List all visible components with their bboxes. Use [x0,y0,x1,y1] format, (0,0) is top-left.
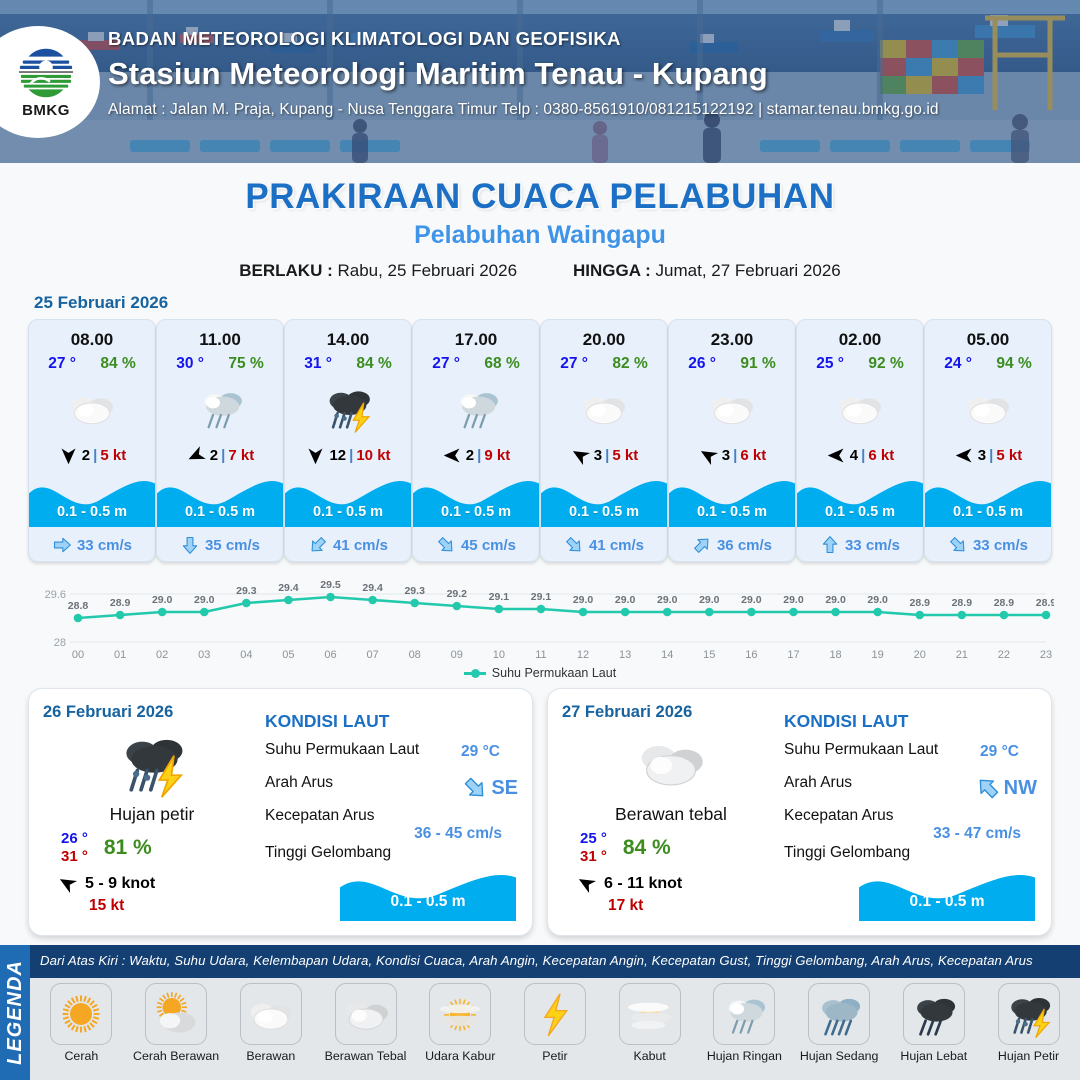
current-direction-arrow-icon [180,535,200,555]
weather-icon-hujan-ringan [448,380,504,436]
current-direction-arrow-icon [432,531,460,559]
hourly-weather-icon [832,379,888,437]
svg-text:19: 19 [872,649,884,661]
wind-direction-arrow-icon [694,441,723,470]
sea-row-wave-label: Tinggi Gelombang [265,844,522,862]
hourly-current-row: 41 cm/s [541,535,667,555]
hourly-wind-gust: 5 kt [100,447,126,464]
hourly-weather-icon [448,379,504,437]
svg-text:08: 08 [409,649,421,661]
svg-text:29.0: 29.0 [194,594,215,606]
hourly-humidity: 84 % [356,355,391,373]
hourly-weather-icon [704,379,760,437]
daily-wind-speed: 5 - 9 knot [85,875,155,893]
daily-temp-max: 31 ° [61,848,88,865]
chart-legend-label: Suhu Permukaan Laut [492,666,616,680]
wind-direction-arrow-icon [954,445,975,466]
current-direction-arrow-icon [969,770,1006,807]
weather-icon-hujan-petir [320,380,376,436]
hourly-card[interactable]: 02.00 25 ° 92 % 4 | 6 kt 0.1 - 0.5 m 33 … [796,319,924,562]
svg-text:04: 04 [240,649,252,661]
sst-chart: 29.62828.80028.90129.00229.00329.30429.4… [26,572,1054,664]
sea-row-speed-label: Kecepatan Arus [784,807,1041,825]
header-text-block: BADAN METEOROLOGI KLIMATOLOGI DAN GEOFIS… [108,28,939,119]
legend-note: Dari Atas Kiri : Waktu, Suhu Udara, Kele… [40,953,1074,968]
current-direction-arrow-icon [944,531,972,559]
hourly-card[interactable]: 14.00 31 ° 84 % 12 | 10 kt 0.1 - 0.5 m [284,319,412,562]
hourly-card[interactable]: 17.00 27 ° 68 % 2 | 9 kt 0.1 - 0.5 m [412,319,540,562]
svg-text:28.9: 28.9 [994,597,1015,609]
hourly-temperature: 27 ° [432,355,460,373]
hourly-temp-hum-row: 25 ° 92 % [797,355,923,373]
wind-separator: | [349,447,353,464]
legend-item-label: Hujan Petir [998,1049,1059,1063]
hourly-current-row: 35 cm/s [157,535,283,555]
sea-condition-title: KONDISI LAUT [784,711,1041,732]
hourly-temperature: 24 ° [944,355,972,373]
daily-forecast-card[interactable]: 26 Februari 2026 Hujan petir 26 ° 31 ° 8… [28,688,533,936]
weather-icon-hujan-petir [1002,987,1056,1041]
daily-left-column: 27 Februari 2026 Berawan tebal 25 ° 31 °… [562,703,780,925]
legend-icon-box [998,983,1060,1045]
sea-row-wave-label: Tinggi Gelombang [784,844,1041,862]
wind-separator: | [733,447,737,464]
hourly-temp-hum-row: 27 ° 82 % [541,355,667,373]
hourly-card[interactable]: 23.00 26 ° 91 % 3 | 6 kt 0.1 - 0.5 m 36 … [668,319,796,562]
hourly-card[interactable]: 05.00 24 ° 94 % 3 | 5 kt 0.1 - 0.5 m 33 … [924,319,1052,562]
svg-text:13: 13 [619,649,631,661]
legend-item: Hujan Ringan [700,983,788,1063]
hourly-wind-row: 3 | 6 kt [669,445,795,466]
hourly-humidity: 84 % [100,355,135,373]
svg-text:14: 14 [661,649,673,661]
title-block: PRAKIRAAN CUACA PELABUHAN Pelabuhan Wain… [0,163,1080,281]
hourly-wind-gust: 5 kt [996,447,1022,464]
daily-wave-graphic [340,863,516,921]
wind-direction-arrow-icon [442,445,463,466]
hourly-temp-hum-row: 27 ° 84 % [29,355,155,373]
legend-item: Berawan [227,983,315,1063]
page-subtitle: Pelabuhan Waingapu [0,221,1080,250]
svg-text:29.0: 29.0 [783,594,804,606]
svg-text:29.0: 29.0 [573,594,594,606]
svg-text:09: 09 [451,649,463,661]
svg-text:12: 12 [577,649,589,661]
svg-text:16: 16 [745,649,757,661]
daily-condition: Berawan tebal [562,804,780,825]
hourly-current-row: 36 cm/s [669,535,795,555]
weather-icon-udara-kabur [433,987,487,1041]
legend-side-tab: LEGENDA [0,945,30,1080]
hourly-date-label: 25 Februari 2026 [34,293,1080,313]
svg-text:02: 02 [156,649,168,661]
hourly-temp-hum-row: 31 ° 84 % [285,355,411,373]
legend-item-label: Petir [542,1049,567,1063]
hourly-time: 14.00 [327,330,370,350]
legend-icon-box [619,983,681,1045]
daily-condition: Hujan petir [43,804,261,825]
hourly-wind-row: 3 | 5 kt [925,445,1051,466]
legend-bar: LEGENDA Dari Atas Kiri : Waktu, Suhu Uda… [0,945,1080,1080]
hourly-wind-row: 2 | 7 kt [157,445,283,466]
svg-text:29.6: 29.6 [45,589,66,601]
sea-current-direction-label: NW [1004,777,1037,800]
wind-separator: | [477,447,481,464]
hourly-time: 20.00 [583,330,626,350]
daily-wave-height: 0.1 - 0.5 m [340,893,516,911]
sea-condition-title: KONDISI LAUT [265,711,522,732]
daily-left-column: 26 Februari 2026 Hujan petir 26 ° 31 ° 8… [43,703,261,925]
svg-text:28.9: 28.9 [952,597,973,609]
wind-separator: | [989,447,993,464]
legend-icon-box [335,983,397,1045]
hourly-weather-icon [64,379,120,437]
valid-to: HINGGA : Jumat, 27 Februari 2026 [573,261,841,281]
hourly-weather-icon [576,379,632,437]
weather-icon-cerah-berawan [149,987,203,1041]
current-direction-arrow-icon [457,770,494,807]
daily-temp-column: 26 ° 31 ° [61,830,88,865]
svg-text:20: 20 [914,649,926,661]
weather-icon-berawan [960,380,1016,436]
hourly-current-speed: 45 cm/s [461,537,516,554]
daily-forecast-card[interactable]: 27 Februari 2026 Berawan tebal 25 ° 31 °… [547,688,1052,936]
legend-item: Berawan Tebal [322,983,410,1063]
wind-direction-arrow-icon [182,442,210,470]
hourly-current-speed: 41 cm/s [589,537,644,554]
station-address: Alamat : Jalan M. Praja, Kupang - Nusa T… [108,101,939,119]
svg-text:15: 15 [703,649,715,661]
bmkg-logo-text: BMKG [22,102,70,119]
daily-temp-min: 26 ° [61,830,88,847]
hourly-temperature: 30 ° [176,355,204,373]
valid-from-value: Rabu, 25 Februari 2026 [337,261,517,280]
legend-item-label: Cerah [64,1049,98,1063]
hourly-temp-hum-row: 24 ° 94 % [925,355,1051,373]
sea-sst-value: 29 °C [980,743,1019,761]
wind-direction-arrow-icon [826,445,847,466]
hourly-temp-hum-row: 27 ° 68 % [413,355,539,373]
chart-legend: Suhu Permukaan Laut [0,666,1080,680]
hourly-wind-value: 2 [210,447,218,464]
legend-item-label: Berawan Tebal [325,1049,407,1063]
legend-icon-box [240,983,302,1045]
sea-sst-value: 29 °C [461,743,500,761]
hourly-current-speed: 33 cm/s [845,537,900,554]
hourly-wind-row: 3 | 5 kt [541,445,667,466]
legend-icon-box [808,983,870,1045]
weather-icon-berawan [244,987,298,1041]
hourly-wind-value: 3 [722,447,730,464]
daily-humidity: 84 % [623,836,671,860]
page-header: BMKG BADAN METEOROLOGI KLIMATOLOGI DAN G… [0,0,1080,163]
daily-date: 27 Februari 2026 [562,703,780,722]
svg-text:29.0: 29.0 [657,594,678,606]
weather-icon-hujan-petir [113,724,191,802]
legend-side-label: LEGENDA [4,960,27,1065]
hourly-wind-row: 12 | 10 kt [285,445,411,466]
hourly-current-speed: 33 cm/s [77,537,132,554]
hourly-current-row: 45 cm/s [413,535,539,555]
hourly-current-speed: 35 cm/s [205,537,260,554]
current-direction-arrow-icon [52,535,72,555]
station-name: Stasiun Meteorologi Maritim Tenau - Kupa… [108,56,939,92]
svg-text:29.3: 29.3 [236,585,257,597]
legend-item-label: Kabut [633,1049,665,1063]
hourly-wave-height: 0.1 - 0.5 m [413,504,539,520]
svg-text:29.4: 29.4 [278,582,299,594]
svg-text:21: 21 [956,649,968,661]
daily-sea-column: KONDISI LAUT Suhu Permukaan Laut Arah Ar… [780,703,1041,925]
wind-separator: | [93,447,97,464]
svg-text:29.1: 29.1 [489,591,510,603]
current-direction-arrow-icon [304,531,332,559]
svg-text:28.9: 28.9 [110,597,131,609]
legend-item-row: Cerah Cerah Berawan Berawan Berawan Teba… [30,978,1080,1080]
svg-text:07: 07 [366,649,378,661]
daily-wind-row: 6 - 11 knot [562,873,780,894]
hourly-humidity: 82 % [612,355,647,373]
sea-row-speed-label: Kecepatan Arus [265,807,522,825]
legend-item-label: Cerah Berawan [133,1049,219,1063]
svg-text:23: 23 [1040,649,1052,661]
legend-icon-box [524,983,586,1045]
svg-text:29.0: 29.0 [825,594,846,606]
daily-forecast-row: 26 Februari 2026 Hujan petir 26 ° 31 ° 8… [0,680,1080,936]
weather-icon-berawan [64,380,120,436]
hourly-weather-icon [960,379,1016,437]
svg-text:22: 22 [998,649,1010,661]
daily-sea-column: KONDISI LAUT Suhu Permukaan Laut Arah Ar… [261,703,522,925]
current-direction-arrow-icon [560,531,588,559]
current-direction-arrow-icon [820,535,840,555]
svg-text:28.9: 28.9 [1036,597,1054,609]
valid-to-label: HINGGA : [573,261,651,280]
wind-separator: | [605,447,609,464]
legend-icon-box [903,983,965,1045]
wind-separator: | [861,447,865,464]
svg-text:11: 11 [535,649,546,661]
wind-direction-arrow-icon [305,445,326,466]
hourly-wind-gust: 10 kt [356,447,390,464]
hourly-wind-row: 2 | 5 kt [29,445,155,466]
svg-text:28.9: 28.9 [910,597,931,609]
hourly-wind-gust: 6 kt [740,447,766,464]
svg-text:28.8: 28.8 [68,600,89,612]
hourly-wind-value: 2 [82,447,90,464]
hourly-wind-gust: 6 kt [868,447,894,464]
daily-weather-icon [562,726,780,800]
validity-row: BERLAKU : Rabu, 25 Februari 2026 HINGGA … [0,261,1080,281]
daily-wind-speed: 6 - 11 knot [604,875,682,893]
hourly-wind-value: 3 [594,447,602,464]
page-title: PRAKIRAAN CUACA PELABUHAN [0,177,1080,217]
svg-text:29.0: 29.0 [699,594,720,606]
sea-current-direction: SE [462,775,518,801]
legend-icon-box [50,983,112,1045]
hourly-wind-value: 3 [978,447,986,464]
hourly-forecast-row: 08.00 27 ° 84 % 2 | 5 kt 0.1 - 0.5 m 33 … [0,319,1080,562]
wave-height-graphic [340,863,516,921]
svg-text:29.0: 29.0 [152,594,173,606]
legend-item: Kabut [606,983,694,1063]
wind-direction-arrow-icon [53,869,82,898]
weather-icon-berawan-tebal [339,987,393,1041]
legend-item: Cerah [37,983,125,1063]
weather-icon-berawan [576,380,632,436]
wind-separator: | [221,447,225,464]
svg-text:18: 18 [829,649,841,661]
legend-item: Hujan Petir [985,983,1073,1063]
weather-icon-hujan-ringan [717,987,771,1041]
legend-item: Hujan Lebat [890,983,978,1063]
daily-date: 26 Februari 2026 [43,703,261,722]
hourly-temperature: 25 ° [816,355,844,373]
hourly-wind-value: 4 [850,447,858,464]
svg-text:29.0: 29.0 [867,594,888,606]
agency-name: BADAN METEOROLOGI KLIMATOLOGI DAN GEOFIS… [108,28,939,50]
valid-from: BERLAKU : Rabu, 25 Februari 2026 [239,261,517,281]
hourly-wind-value: 2 [466,447,474,464]
hourly-wave-height: 0.1 - 0.5 m [285,504,411,520]
hourly-humidity: 68 % [484,355,519,373]
hourly-wave-height: 0.1 - 0.5 m [157,504,283,520]
hourly-time: 17.00 [455,330,498,350]
hourly-current-row: 33 cm/s [925,535,1051,555]
hourly-temperature: 26 ° [688,355,716,373]
hourly-wind-gust: 7 kt [228,447,254,464]
legend-item-label: Udara Kabur [425,1049,495,1063]
wind-direction-arrow-icon [58,445,79,466]
weather-icon-hujan-ringan [192,380,248,436]
svg-text:29.4: 29.4 [362,582,383,594]
hourly-current-speed: 33 cm/s [973,537,1028,554]
weather-icon-hujan-sedang [812,987,866,1041]
svg-text:29.3: 29.3 [404,585,425,597]
legend-item: Udara Kabur [416,983,504,1063]
hourly-temp-hum-row: 30 ° 75 % [157,355,283,373]
legend-item: Petir [511,983,599,1063]
svg-text:29.0: 29.0 [615,594,636,606]
hourly-weather-icon [320,379,376,437]
legend-icon-box [145,983,207,1045]
wind-direction-arrow-icon [572,869,601,898]
daily-gust: 15 kt [89,897,261,915]
hourly-time: 05.00 [967,330,1010,350]
hourly-temperature: 31 ° [304,355,332,373]
hourly-temperature: 27 ° [560,355,588,373]
hourly-weather-icon [192,379,248,437]
hourly-wind-value: 12 [329,447,346,464]
daily-temp-min: 25 ° [580,830,607,847]
hourly-temp-hum-row: 26 ° 91 % [669,355,795,373]
hourly-wind-gust: 5 kt [612,447,638,464]
hourly-wave-height: 0.1 - 0.5 m [925,504,1051,520]
hourly-time: 23.00 [711,330,754,350]
weather-icon-petir [528,987,582,1041]
legend-item: Hujan Sedang [795,983,883,1063]
hourly-temperature: 27 ° [48,355,76,373]
daily-temp-row: 26 ° 31 ° 81 % [43,830,261,865]
hourly-time: 02.00 [839,330,882,350]
hourly-card[interactable]: 11.00 30 ° 75 % 2 | 7 kt 0.1 - 0.5 m [156,319,284,562]
valid-from-label: BERLAKU : [239,261,333,280]
valid-to-value: Jumat, 27 Februari 2026 [656,261,841,280]
legend-item-label: Berawan [246,1049,295,1063]
svg-text:03: 03 [198,649,210,661]
daily-wave-height: 0.1 - 0.5 m [859,893,1035,911]
hourly-humidity: 75 % [228,355,263,373]
svg-text:29.2: 29.2 [447,588,468,600]
hourly-card[interactable]: 08.00 27 ° 84 % 2 | 5 kt 0.1 - 0.5 m 33 … [28,319,156,562]
hourly-wind-row: 2 | 9 kt [413,445,539,466]
hourly-current-speed: 41 cm/s [333,537,388,554]
sea-current-speed: 36 - 45 cm/s [414,825,502,843]
legend-item-label: Hujan Sedang [800,1049,879,1063]
svg-text:29.5: 29.5 [320,579,341,591]
hourly-wind-row: 4 | 6 kt [797,445,923,466]
svg-text:17: 17 [787,649,799,661]
legend-icon-box [713,983,775,1045]
hourly-humidity: 91 % [740,355,775,373]
daily-humidity: 81 % [104,836,152,860]
legend-item-label: Hujan Ringan [707,1049,782,1063]
sea-current-speed: 33 - 47 cm/s [933,825,1021,843]
wind-direction-arrow-icon [566,441,595,470]
legend-item: Cerah Berawan [132,983,220,1063]
hourly-humidity: 92 % [868,355,903,373]
hourly-current-row: 33 cm/s [797,535,923,555]
hourly-card[interactable]: 20.00 27 ° 82 % 3 | 5 kt 0.1 - 0.5 m 41 … [540,319,668,562]
sst-series-swatch-icon [464,672,486,675]
weather-icon-cerah [54,987,108,1041]
hourly-current-speed: 36 cm/s [717,537,772,554]
weather-icon-berawan-tebal [632,724,710,802]
weather-icon-kabut [623,987,677,1041]
wave-height-graphic [859,863,1035,921]
sea-current-direction: NW [975,775,1037,801]
hourly-time: 08.00 [71,330,114,350]
bmkg-emblem-icon [17,45,75,101]
hourly-wave-height: 0.1 - 0.5 m [29,504,155,520]
sst-chart-canvas: 29.62828.80028.90129.00229.00329.30429.4… [26,572,1054,664]
hourly-wave-height: 0.1 - 0.5 m [541,504,667,520]
svg-text:00: 00 [72,649,84,661]
daily-temp-column: 25 ° 31 ° [580,830,607,865]
hourly-time: 11.00 [199,330,241,350]
hourly-current-row: 41 cm/s [285,535,411,555]
daily-temp-row: 25 ° 31 ° 84 % [562,830,780,865]
hourly-humidity: 94 % [996,355,1031,373]
hourly-wave-height: 0.1 - 0.5 m [669,504,795,520]
weather-icon-hujan-lebat [907,987,961,1041]
daily-wave-graphic [859,863,1035,921]
legend-icon-box [429,983,491,1045]
hourly-current-row: 33 cm/s [29,535,155,555]
hourly-wind-gust: 9 kt [484,447,510,464]
svg-text:10: 10 [493,649,505,661]
weather-icon-berawan [832,380,888,436]
daily-temp-max: 31 ° [580,848,607,865]
svg-text:29.1: 29.1 [531,591,552,603]
daily-gust: 17 kt [608,897,780,915]
sea-current-direction-label: SE [491,777,518,800]
current-direction-arrow-icon [688,531,716,559]
legend-item-label: Hujan Lebat [900,1049,967,1063]
weather-icon-berawan [704,380,760,436]
daily-wind-row: 5 - 9 knot [43,873,261,894]
svg-text:06: 06 [324,649,336,661]
